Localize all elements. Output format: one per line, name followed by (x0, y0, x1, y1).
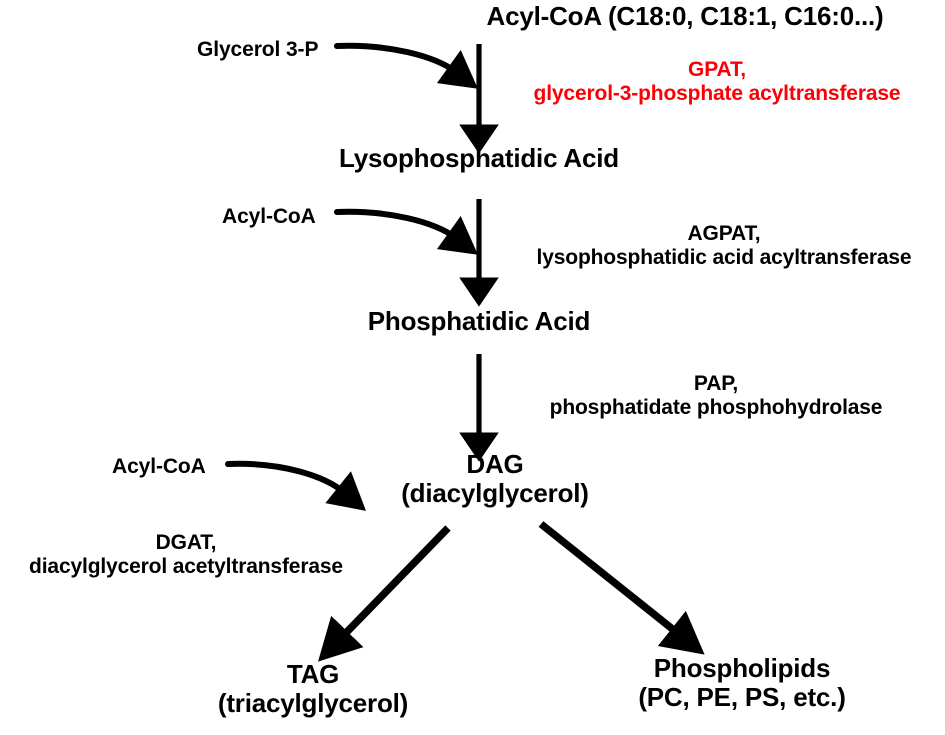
node-phospholipids-label: Phospholipids (638, 654, 845, 683)
node-acyl-coa-top-label: Acyl-CoA (C18:0, C18:1, C16:0...) (487, 1, 884, 31)
arrow-glycerol3p-to-step1 (337, 46, 456, 72)
node-lysophosphatidic-acid-label: Lysophosphatidic Acid (339, 143, 619, 173)
node-phospholipids-species: (PC, PE, PS, etc.) (638, 683, 845, 712)
enzyme-pap-abbrev: PAP, (550, 372, 883, 396)
node-lysophosphatidic-acid: Lysophosphatidic Acid (339, 144, 619, 173)
enzyme-gpat-full-name: glycerol-3-phosphate acyltransferase (534, 82, 901, 106)
node-tag: TAG (triacylglycerol) (218, 660, 408, 718)
node-acyl-coa-top: Acyl-CoA (C18:0, C18:1, C16:0...) (487, 2, 884, 31)
arrow-acylcoa-to-step2 (337, 212, 456, 238)
pathway-arrow-layer (0, 0, 945, 735)
arrow-acylcoa-to-step4 (228, 464, 345, 493)
node-phospholipids: Phospholipids (PC, PE, PS, etc.) (638, 654, 845, 712)
enzyme-pap-full-name: phosphatidate phosphohydrolase (550, 396, 883, 420)
node-tag-abbrev: TAG (218, 660, 408, 689)
node-acyl-coa-second-label: Acyl-CoA (222, 205, 316, 228)
pathway-diagram: Acyl-CoA (C18:0, C18:1, C16:0...) Glycer… (0, 0, 945, 735)
enzyme-agpat: AGPAT, lysophosphatidic acid acyltransfe… (537, 222, 912, 269)
arrow-dag-to-phospholipids (541, 524, 680, 635)
enzyme-gpat: GPAT, glycerol-3-phosphate acyltransfera… (534, 58, 901, 105)
node-acyl-coa-third-label: Acyl-CoA (112, 455, 206, 478)
enzyme-dgat-full-name: diacylglycerol acetyltransferase (29, 555, 343, 579)
arrow-dag-to-tag (340, 528, 448, 639)
node-tag-full-name: (triacylglycerol) (218, 689, 408, 718)
enzyme-dgat: DGAT, diacylglycerol acetyltransferase (29, 531, 343, 578)
node-acyl-coa-third: Acyl-CoA (112, 455, 206, 479)
node-glycerol-3-p: Glycerol 3-P (197, 38, 318, 62)
node-dag: DAG (diacylglycerol) (401, 450, 589, 508)
enzyme-gpat-abbrev: GPAT, (534, 58, 901, 82)
node-dag-full-name: (diacylglycerol) (401, 479, 589, 508)
node-acyl-coa-second: Acyl-CoA (222, 205, 316, 229)
node-phosphatidic-acid: Phosphatidic Acid (368, 307, 590, 336)
node-dag-abbrev: DAG (401, 450, 589, 479)
enzyme-agpat-full-name: lysophosphatidic acid acyltransferase (537, 246, 912, 270)
enzyme-agpat-abbrev: AGPAT, (537, 222, 912, 246)
enzyme-dgat-abbrev: DGAT, (29, 531, 343, 555)
node-phosphatidic-acid-label: Phosphatidic Acid (368, 306, 590, 336)
node-glycerol-3-p-label: Glycerol 3-P (197, 38, 318, 61)
enzyme-pap: PAP, phosphatidate phosphohydrolase (550, 372, 883, 419)
